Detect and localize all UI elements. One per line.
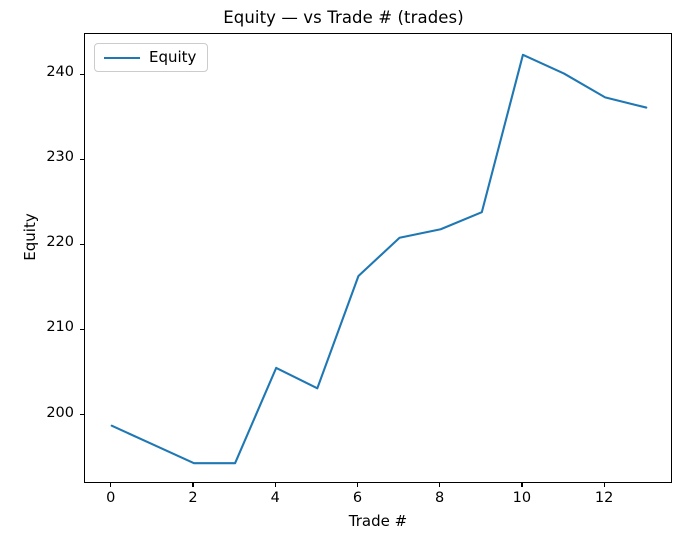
chart-legend[interactable]: Equity	[94, 43, 208, 72]
x-axis-label: Trade #	[84, 512, 672, 530]
x-tick-label: 6	[337, 490, 377, 506]
legend-label-equity: Equity	[149, 50, 196, 65]
x-tick-label: 2	[173, 490, 213, 506]
x-tick-label: 10	[502, 490, 542, 506]
legend-line-swatch-equity	[104, 57, 140, 59]
equity-chart-figure: Equity — vs Trade # (trades) Equity Trad…	[0, 0, 687, 546]
y-axis-label: Equity	[21, 157, 39, 317]
y-tick-label: 240	[46, 64, 74, 80]
y-tick-label: 210	[46, 319, 74, 335]
x-tick-label: 12	[584, 490, 624, 506]
y-tick-label: 220	[46, 234, 74, 250]
x-tick-label: 4	[255, 490, 295, 506]
equity-series-line	[112, 55, 647, 463]
equity-line-svg	[85, 34, 673, 484]
y-tick-label: 230	[46, 149, 74, 165]
x-tick-label: 0	[91, 490, 131, 506]
x-tick-label: 8	[420, 490, 460, 506]
y-tick-label: 200	[46, 405, 74, 421]
chart-title: Equity — vs Trade # (trades)	[0, 8, 687, 27]
plot-area	[84, 33, 672, 483]
